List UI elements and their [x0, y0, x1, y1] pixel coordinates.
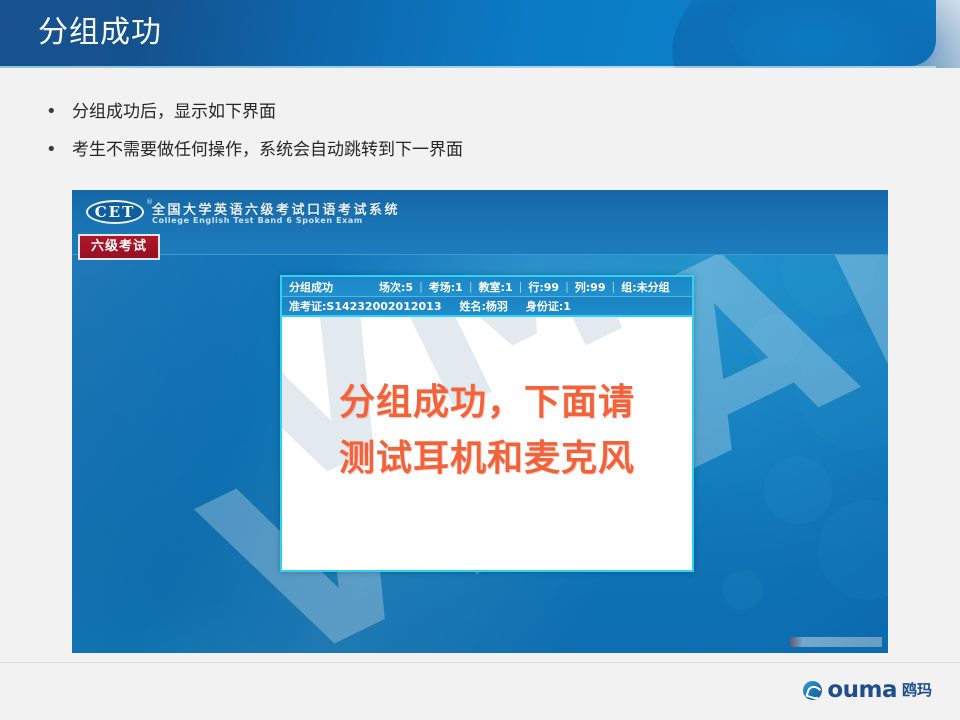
brand-logo: ouma 鸥玛 [803, 678, 932, 702]
dialog-message-line-1: 分组成功，下面请 [282, 375, 692, 431]
exam-app-header: CET ® 全国大学英语六级考试口语考试系统 College English T… [72, 190, 888, 255]
brand-name-en: ouma [827, 678, 897, 702]
ouma-swirl-icon [803, 681, 822, 700]
header-underline [0, 66, 936, 68]
list-item: • 考生不需要做任何操作，系统会自动跳转到下一界面 [46, 136, 916, 164]
dialog-message-line-2: 测试耳机和麦克风 [282, 431, 692, 487]
list-item: • 分组成功后，显示如下界面 [46, 98, 916, 126]
page-title: 分组成功 [38, 14, 162, 52]
header-swoosh-shape-secondary [728, 0, 948, 68]
dialog-message: 分组成功，下面请 测试耳机和麦克风 [282, 375, 692, 487]
bullet-text: 分组成功后，显示如下界面 [72, 98, 276, 126]
dialog-status-text: 分组成功 [289, 279, 333, 295]
field-session: 场次:5 [379, 279, 413, 295]
field-ticket-number: 准考证:S14232002012013 [289, 298, 441, 314]
cet-logo-icon: CET [86, 200, 144, 224]
footer-divider [0, 662, 960, 663]
status-badge: 六级考试 [78, 234, 160, 260]
dialog-body: VMAPS 分组成功，下面请 测试耳机和麦克风 [282, 317, 692, 570]
field-group: 组:未分组 [621, 279, 669, 295]
screenshot-corner-watermark [790, 637, 882, 647]
separator: | [612, 280, 616, 293]
separator: | [419, 280, 423, 293]
slide-header: 分组成功 [0, 0, 960, 68]
separator: | [519, 280, 523, 293]
exam-system-title-en: College English Test Band 6 Spoken Exam [152, 216, 363, 225]
bullet-icon: • [46, 136, 72, 164]
brand-name-cn: 鸥玛 [902, 678, 932, 702]
bullet-text: 考生不需要做任何操作，系统会自动跳转到下一界面 [72, 136, 463, 164]
field-id-card: 身份证:1 [526, 298, 571, 314]
exam-dialog: 分组成功 场次:5 | 考场:1 | 教室:1 | 行:99 | 列:99 | … [280, 275, 694, 572]
field-exam-room: 考场:1 [429, 279, 463, 295]
embedded-screenshot: VMAPS CET ® 全国大学英语六级考试口语考试系统 College Eng… [72, 190, 888, 653]
separator: | [469, 280, 473, 293]
field-candidate-name: 姓名:杨羽 [459, 298, 507, 314]
separator: | [565, 280, 569, 293]
dialog-info-bar-secondary: 准考证:S14232002012013 姓名:杨羽 身份证:1 [282, 297, 692, 317]
bullet-list: • 分组成功后，显示如下界面 • 考生不需要做任何操作，系统会自动跳转到下一界面 [46, 98, 916, 174]
field-column: 列:99 [575, 279, 606, 295]
dialog-info-bar-primary: 分组成功 场次:5 | 考场:1 | 教室:1 | 行:99 | 列:99 | … [282, 277, 692, 297]
field-classroom: 教室:1 [479, 279, 513, 295]
bullet-icon: • [46, 98, 72, 126]
field-row: 行:99 [528, 279, 559, 295]
